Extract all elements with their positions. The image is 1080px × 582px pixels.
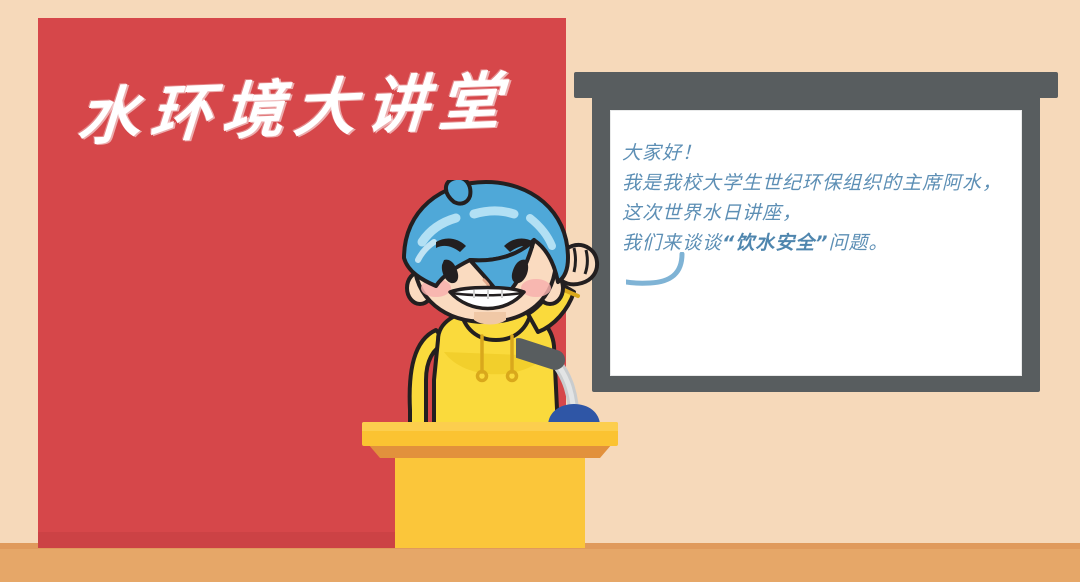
page-title: 水环境大讲堂: [75, 69, 541, 149]
whiteboard-line-4-suffix: 问题。: [829, 232, 889, 254]
whiteboard-text: 大家好！ 我是我校大学生世纪环保组织的主席阿水， 这次世界水日讲座， 我们来谈谈…: [622, 138, 1018, 258]
whiteboard-line-1: 大家好！: [622, 138, 1018, 168]
podium-body: [395, 455, 585, 548]
whiteboard-line-2: 我是我校大学生世纪环保组织的主席阿水，: [622, 168, 1018, 198]
whiteboard-line-3: 这次世界水日讲座，: [622, 198, 1018, 228]
blue-hook-stroke-icon: [626, 252, 688, 292]
whiteboard-line-4-keyword: “饮水安全”: [722, 232, 828, 254]
microphone: [516, 330, 626, 430]
whiteboard-line-4-prefix: 我们来谈谈: [622, 232, 722, 254]
podium-underside: [368, 444, 612, 458]
podium-top-highlight: [362, 422, 618, 431]
lecture-illustration: 水环境大讲堂 大家好！ 我是我校大学生世纪环保组织的主席阿水， 这次世界水日讲座…: [0, 0, 1080, 582]
